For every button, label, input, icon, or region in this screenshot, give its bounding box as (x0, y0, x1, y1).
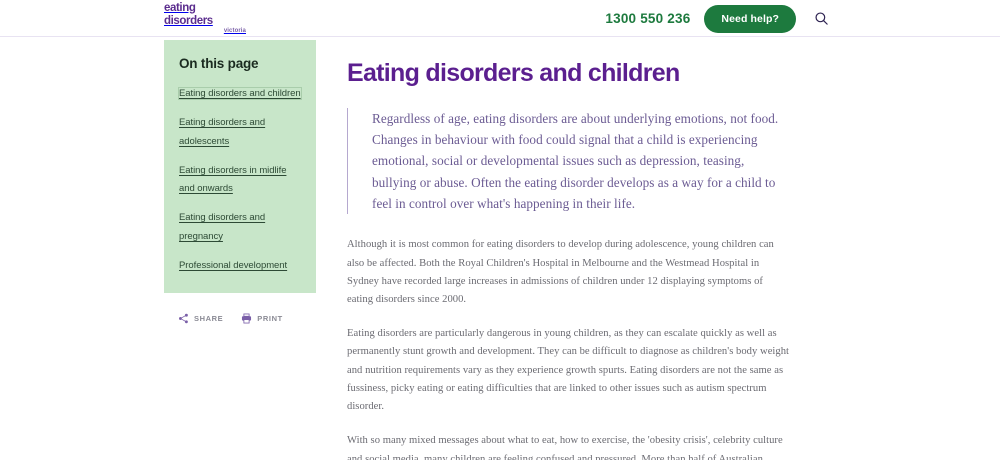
logo-subtitle: victoria (164, 28, 248, 34)
table-of-contents: On this page Eating disorders and childr… (164, 40, 316, 293)
lead-quote: Regardless of age, eating disorders are … (347, 108, 791, 215)
need-help-button[interactable]: Need help? (704, 5, 796, 33)
header-actions: 1300 550 236 Need help? (605, 0, 830, 37)
list-item: Eating disorders and adolescents (179, 112, 301, 149)
lead-quote-text: Regardless of age, eating disorders are … (372, 108, 791, 215)
list-item: Eating disorders and pregnancy (179, 207, 301, 244)
share-icon (178, 313, 189, 324)
paragraph-3: With so many mixed messages about what t… (347, 432, 791, 460)
paragraph-1: Although it is most common for eating di… (347, 236, 791, 309)
on-this-page-sidebar: On this page Eating disorders and childr… (164, 40, 316, 324)
search-icon (814, 11, 829, 26)
page-title: Eating disorders and children (347, 60, 791, 88)
sidebar-item-professional-development[interactable]: Professional development (179, 260, 287, 271)
page-body: On this page Eating disorders and childr… (0, 37, 1000, 460)
share-print-bar: SHARE PRINT (164, 313, 316, 324)
article-body: Although it is most common for eating di… (347, 236, 791, 460)
sidebar-item-eating-disorders-in-midlife-and-onwards[interactable]: Eating disorders in midlife and onwards (179, 165, 286, 194)
toc-list: Eating disorders and children Eating dis… (179, 83, 301, 273)
logo-line-one: eating (164, 3, 248, 15)
sidebar-heading: On this page (179, 56, 301, 71)
phone-link[interactable]: 1300 550 236 (605, 11, 690, 26)
sidebar-item-eating-disorders-and-pregnancy[interactable]: Eating disorders and pregnancy (179, 212, 265, 241)
site-logo[interactable]: eating disorders victoria (164, 3, 248, 34)
list-item: Eating disorders in midlife and onwards (179, 160, 301, 197)
sidebar-item-eating-disorders-and-adolescents[interactable]: Eating disorders and adolescents (179, 117, 265, 146)
paragraph-2: Eating disorders are particularly danger… (347, 325, 791, 416)
share-label: SHARE (194, 314, 223, 323)
list-item: Eating disorders and children (179, 83, 301, 101)
share-button[interactable]: SHARE (178, 313, 223, 324)
site-header: eating disorders victoria 1300 550 236 N… (0, 0, 1000, 37)
logo-line-two: disorders (164, 16, 248, 28)
print-icon (241, 313, 252, 324)
print-label: PRINT (257, 314, 283, 323)
print-button[interactable]: PRINT (241, 313, 283, 324)
search-button[interactable] (812, 10, 830, 28)
sidebar-item-eating-disorders-and-children[interactable]: Eating disorders and children (179, 88, 301, 99)
main-content: Eating disorders and children Regardless… (347, 37, 791, 460)
list-item: Professional development (179, 255, 301, 273)
